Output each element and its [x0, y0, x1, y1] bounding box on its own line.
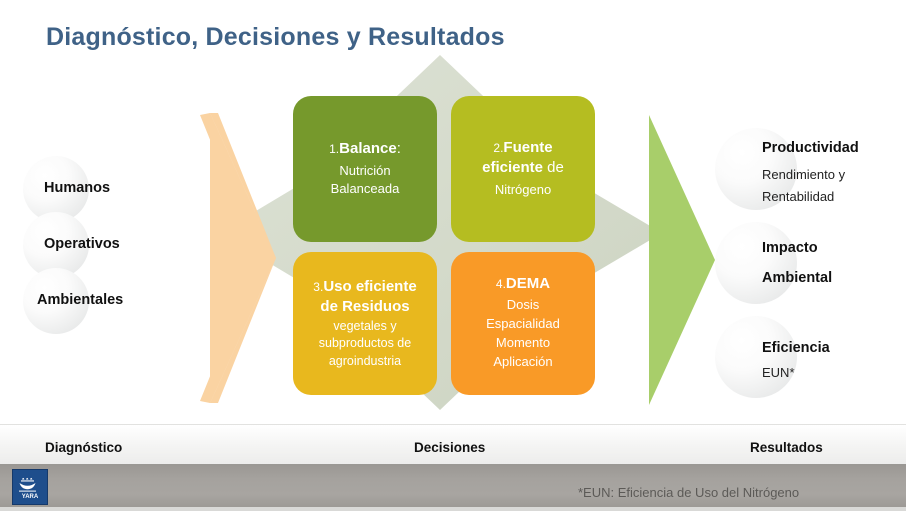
- decision-box-4-line-2: Espacialidad: [461, 316, 585, 333]
- footer-bottom-edge: [0, 507, 906, 511]
- decision-box-2[interactable]: 2.Fuente eficiente de Nitrógeno: [451, 96, 595, 242]
- result-sub-productividad-1: Rendimiento y: [762, 165, 845, 185]
- left-arrow-icon: [198, 113, 278, 403]
- decision-box-3-line-1: vegetales y: [303, 318, 427, 334]
- decision-box-4[interactable]: 4.DEMA Dosis Espacialidad Momento Aplica…: [451, 252, 595, 395]
- right-arrow-icon: [639, 115, 717, 405]
- decision-box-3-heading: Uso eficiente de Residuos: [320, 278, 416, 315]
- result-title-impacto-1: Impacto: [762, 240, 818, 256]
- footer-section-diagnostico: Diagnóstico: [45, 440, 122, 455]
- result-title-productividad: Productividad: [762, 140, 859, 156]
- decision-box-1-line-1: Nutrición: [303, 163, 427, 180]
- slide-canvas: Diagnóstico, Decisiones y Resultados: [0, 0, 906, 511]
- decision-box-3-line-2: subproductos de: [303, 335, 427, 351]
- decision-box-4-line-4: Aplicación: [461, 354, 585, 371]
- decision-box-1-heading-suffix: :: [397, 140, 401, 157]
- yara-logo-icon[interactable]: YARA: [12, 469, 48, 505]
- footnote-eun: *EUN: Eficiencia de Uso del Nitrógeno: [578, 485, 799, 500]
- result-title-eficiencia: Eficiencia: [762, 340, 830, 356]
- result-title-impacto-2: Ambiental: [762, 270, 832, 286]
- svg-text:YARA: YARA: [22, 494, 39, 500]
- decision-box-3-number: 3.: [313, 280, 323, 294]
- result-sub-eficiencia: EUN*: [762, 363, 795, 383]
- page-title: Diagnóstico, Decisiones y Resultados: [46, 23, 505, 52]
- result-circle-impacto[interactable]: [715, 222, 797, 304]
- decision-box-4-heading: DEMA: [506, 275, 550, 292]
- decision-box-1[interactable]: 1.Balance: Nutrición Balanceada: [293, 96, 437, 242]
- footer-section-decisiones: Decisiones: [414, 440, 485, 455]
- decision-box-4-line-3: Momento: [461, 335, 585, 352]
- four-way-arrow-icon: [219, 55, 662, 410]
- decision-box-3[interactable]: 3.Uso eficiente de Residuos vegetales y …: [293, 252, 437, 395]
- decision-box-1-number: 1.: [329, 142, 339, 156]
- decision-box-3-line-3: agroindustria: [303, 353, 427, 369]
- result-sub-productividad-2: Rentabilidad: [762, 187, 834, 207]
- decision-box-2-number: 2.: [493, 141, 503, 155]
- decision-box-4-line-1: Dosis: [461, 297, 585, 314]
- input-label-operativos: Operativos: [44, 236, 120, 252]
- input-label-ambientales: Ambientales: [37, 292, 123, 308]
- footer-section-resultados: Resultados: [750, 440, 823, 455]
- decision-box-4-number: 4.: [496, 277, 506, 291]
- decision-box-1-line-2: Balanceada: [303, 181, 427, 198]
- decision-box-2-heading-suffix: de: [543, 159, 564, 176]
- decision-box-1-heading: Balance: [339, 140, 397, 157]
- decision-box-2-line-1: Nitrógeno: [461, 182, 585, 199]
- input-label-humanos: Humanos: [44, 180, 110, 196]
- result-circle-eficiencia[interactable]: [715, 316, 797, 398]
